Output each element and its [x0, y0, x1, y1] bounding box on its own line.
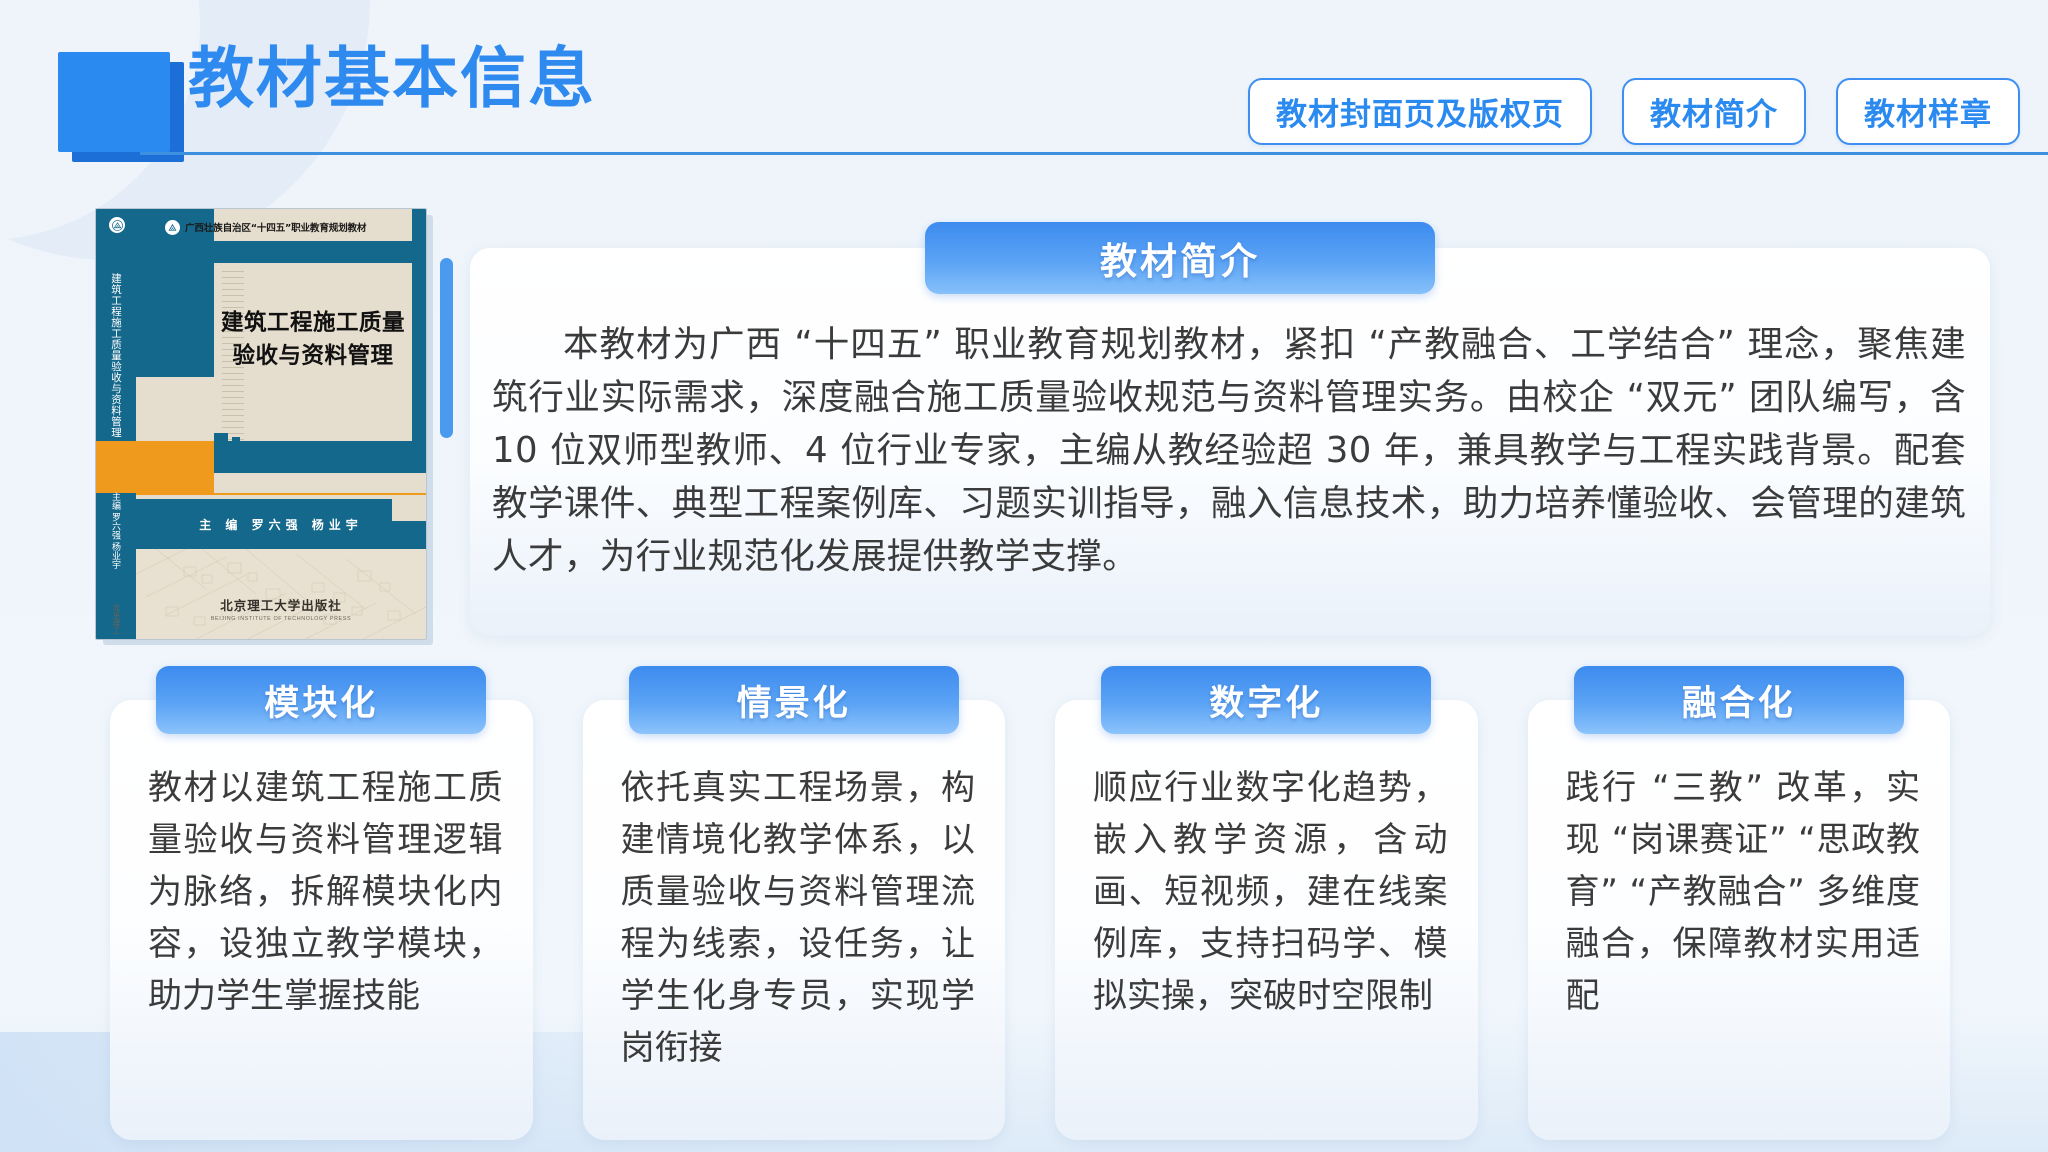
feature-title-scenario: 情景化	[737, 675, 851, 726]
cover-top-band	[214, 241, 426, 263]
cover-series-line: 广西壮族自治区“十四五”职业教育规划教材	[164, 217, 422, 237]
cover-title-line-1: 建筑工程施工质量	[214, 307, 412, 340]
series-emblem-icon	[164, 219, 181, 236]
cover-corner-notch	[392, 499, 426, 521]
cover-right-bar	[412, 209, 426, 441]
intro-panel-header: 教材简介	[925, 222, 1435, 294]
header-square-icon	[58, 52, 170, 152]
cover-author-band: 主 编 罗六强 杨业宇	[136, 499, 426, 549]
feature-card-row: 模块化 教材以建筑工程施工质量验收与资料管理逻辑为脉络，拆解模块化内容，设独立教…	[110, 700, 1950, 1140]
feature-title-modular: 模块化	[264, 675, 378, 726]
feature-card-integration[interactable]: 融合化 践行 “三教” 改革，实现 “岗课赛证” “思政教育” “产教融合” 多…	[1528, 700, 1951, 1140]
feature-card-header-modular: 模块化	[156, 666, 486, 734]
feature-card-modular[interactable]: 模块化 教材以建筑工程施工质量验收与资料管理逻辑为脉络，拆解模块化内容，设独立教…	[110, 700, 533, 1140]
cover-spine-editor: 主编 罗六强 杨业宇	[102, 492, 130, 569]
publisher-name-cn: 北京理工大学出版社	[136, 595, 426, 614]
intro-accent-bar	[440, 258, 453, 438]
tab-textbook-intro[interactable]: 教材简介	[1622, 78, 1806, 145]
feature-title-digital: 数字化	[1209, 675, 1323, 726]
cover-title: 建筑工程施工质量 验收与资料管理	[214, 307, 412, 372]
cover-spine-title: 建筑工程施工质量验收与资料管理	[99, 273, 133, 438]
series-text: 广西壮族自治区“十四五”职业教育规划教材	[185, 220, 366, 234]
intro-heading-label: 教材简介	[1100, 231, 1260, 285]
intro-body-text: 本教材为广西 “十四五” 职业教育规划教材，紧扣 “产教融合、工学结合” 理念，…	[492, 318, 1966, 583]
cover-orange-rule	[136, 493, 426, 495]
mountain-emblem-icon	[112, 220, 123, 231]
feature-card-header-digital: 数字化	[1101, 666, 1431, 734]
cover-orange-block	[136, 441, 214, 493]
feature-card-digital[interactable]: 数字化 顺应行业数字化趋势，嵌入教学资源，含动画、短视频，建在线案例库，支持扫码…	[1055, 700, 1478, 1140]
cover-editor-line: 主 编 罗六强 杨业宇	[199, 516, 363, 533]
page-title: 教材基本信息	[188, 46, 596, 112]
cover-title-line-2: 验收与资料管理	[214, 340, 412, 373]
feature-body-integration: 践行 “三教” 改革，实现 “岗课赛证” “思政教育” “产教融合” 多维度融合…	[1566, 762, 1921, 1022]
feature-card-header-scenario: 情景化	[629, 666, 959, 734]
header-divider	[140, 152, 2048, 155]
feature-title-integration: 融合化	[1682, 675, 1796, 726]
tab-cover-and-copyright[interactable]: 教材封面页及版权页	[1248, 78, 1592, 145]
book-cover-image[interactable]: 北京理工大学出版社 BEIJING INSTITUTE OF TECHNOLOG…	[95, 208, 427, 640]
feature-body-modular: 教材以建筑工程施工质量验收与资料管理逻辑为脉络，拆解模块化内容，设独立教学模块，…	[148, 762, 503, 1022]
header-tab-bar: 教材封面页及版权页 教材简介 教材样章	[1248, 78, 2020, 145]
feature-body-scenario: 依托真实工程场景，构建情境化教学体系，以质量验收与资料管理流程为线索，设任务，让…	[621, 762, 976, 1074]
cover-spine-emblem-icon	[109, 217, 125, 233]
cover-mid-band	[214, 441, 426, 473]
feature-card-header-integration: 融合化	[1574, 666, 1904, 734]
tab-sample-chapter[interactable]: 教材样章	[1836, 78, 2020, 145]
publisher-block: 北京理工大学出版社 BEIJING INSTITUTE OF TECHNOLOG…	[136, 595, 426, 622]
cover-blueprint-area: 北京理工大学出版社 BEIJING INSTITUTE OF TECHNOLOG…	[136, 549, 426, 639]
cover-spine-publisher: 北京理工大学出版社	[104, 604, 128, 639]
feature-card-scenario[interactable]: 情景化 依托真实工程场景，构建情境化教学体系，以质量验收与资料管理流程为线索，设…	[583, 700, 1006, 1140]
feature-body-digital: 顺应行业数字化趋势，嵌入教学资源，含动画、短视频，建在线案例库，支持扫码学、模拟…	[1093, 762, 1448, 1022]
blueprint-pattern-icon	[136, 549, 426, 639]
publisher-name-en: BEIJING INSTITUTE OF TECHNOLOGY PRESS	[136, 616, 426, 622]
cover-spine-orange-band	[96, 441, 136, 493]
page-header: 教材基本信息 教材封面页及版权页 教材简介 教材样章	[0, 0, 2048, 152]
